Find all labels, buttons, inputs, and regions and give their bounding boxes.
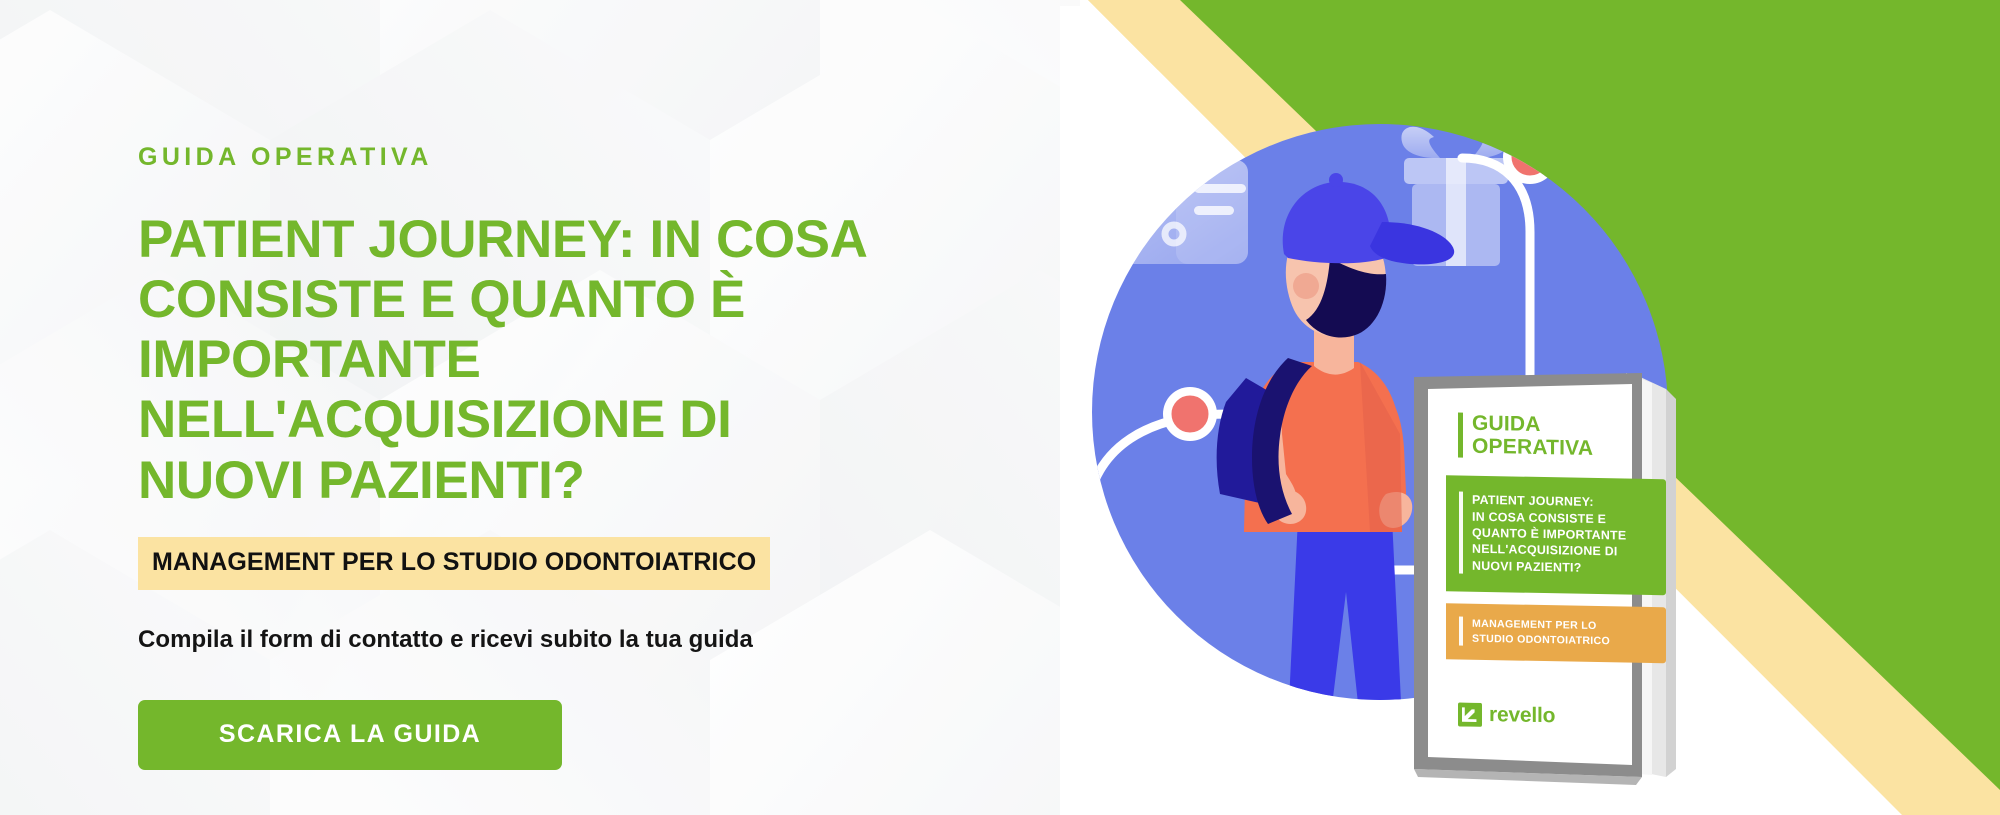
- download-guide-button[interactable]: SCARICA LA GUIDA: [138, 700, 562, 770]
- revello-mark-icon: [1458, 702, 1482, 726]
- revello-wordmark: revello: [1489, 703, 1555, 728]
- character-ear: [1293, 273, 1319, 299]
- lede-text: Compila il form di contatto e ricevi sub…: [138, 626, 898, 654]
- hero-copy: GUIDA OPERATIVA PATIENT JOURNEY: IN COSA…: [138, 142, 898, 770]
- journey-node-dot-left: [1163, 387, 1217, 441]
- revello-logo: revello: [1458, 702, 1555, 728]
- book-title-text: PATIENT JOURNEY: IN COSA CONSISTE E QUAN…: [1472, 492, 1626, 577]
- discount-card-icon: [1096, 160, 1248, 264]
- book-kicker-accent-bar: [1458, 412, 1463, 457]
- book-kicker-text: GUIDA OPERATIVA: [1472, 413, 1593, 461]
- book-subtitle-block: MANAGEMENT PER LO STUDIO ODONTOIATRICO: [1446, 603, 1666, 663]
- page-title: PATIENT JOURNEY: IN COSA CONSISTE E QUAN…: [138, 210, 898, 511]
- book-subtitle-text: MANAGEMENT PER LO STUDIO ODONTOIATRICO: [1472, 617, 1610, 648]
- subtitle-band: MANAGEMENT PER LO STUDIO ODONTOIATRICO: [138, 537, 770, 590]
- book-title-block: PATIENT JOURNEY: IN COSA CONSISTE E QUAN…: [1446, 476, 1666, 596]
- eyebrow-label: GUIDA OPERATIVA: [138, 142, 898, 172]
- book-kicker: GUIDA OPERATIVA: [1432, 386, 1684, 462]
- book-title-accent-bar: [1459, 492, 1463, 574]
- journey-node-dot-top: [1503, 130, 1557, 184]
- hero-banner: GUIDA OPERATIVA PATIENT JOURNEY: IN COSA…: [0, 0, 2000, 815]
- book-subtitle-accent-bar: [1459, 617, 1463, 646]
- guide-book-mockup: GUIDA OPERATIVA PATIENT JOURNEY: IN COSA…: [1404, 373, 1700, 785]
- character-cap-button: [1329, 173, 1343, 187]
